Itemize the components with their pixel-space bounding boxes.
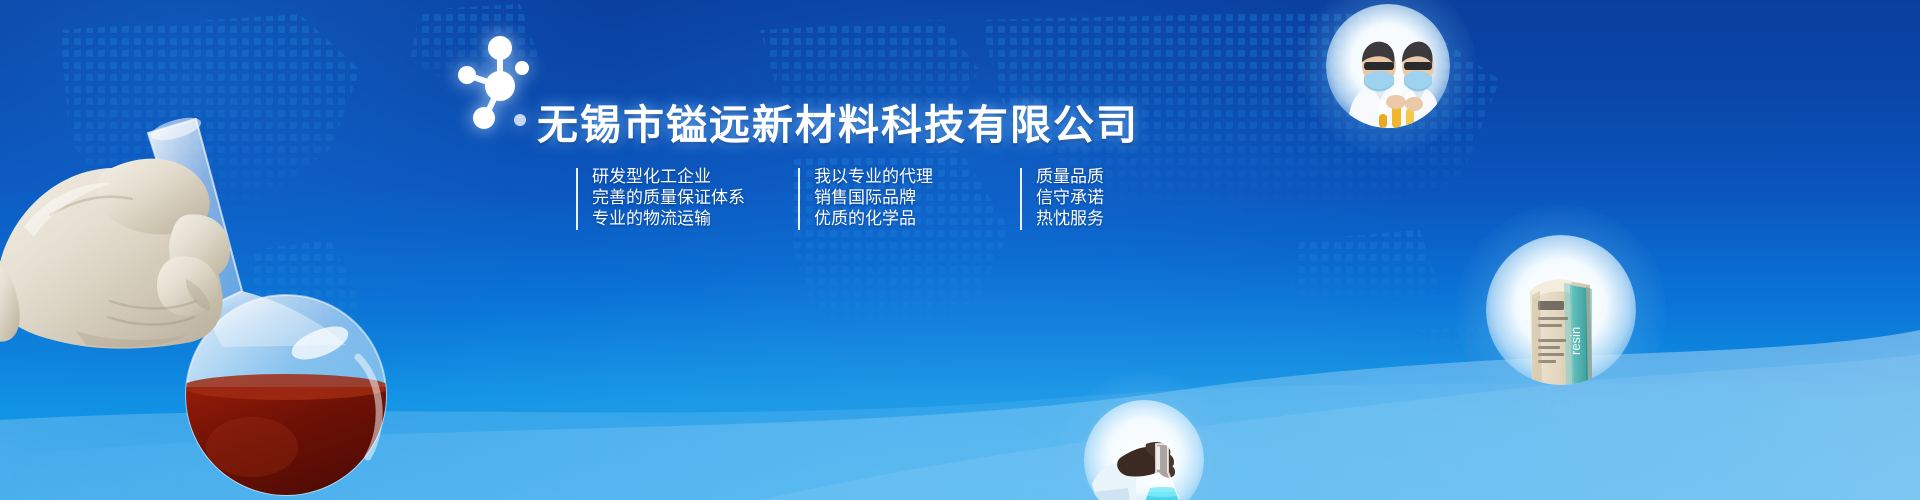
slogan-column-agency-brands-chemicals: 我以专业的代理 销售国际品牌 优质的化学品 [798,166,974,229]
slogan-column-rnd-quality-logistics: 研发型化工企业 完善的质量保证体系 专业的物流运输 [576,166,752,229]
bubble-halo [1084,400,1204,500]
company-hero-banner: 无锡市镒远新材料科技有限公司 研发型化工企业 完善的质量保证体系 专业的物流运输… [0,0,1920,500]
page-title: 无锡市镒远新材料科技有限公司 [537,91,1139,151]
slogan-line: 质量品质 [1036,166,1132,187]
bubble-halo [1486,235,1636,385]
slogan-group: 研发型化工企业 完善的质量保证体系 专业的物流运输 我以专业的代理 销售国际品牌… [576,166,1132,229]
background-glow-bottom [0,260,1920,500]
bubble-glow-product-bag [1456,205,1666,415]
background-light-streaks [0,270,1920,500]
slogan-line: 我以专业的代理 [814,166,974,187]
column-divider-rule [576,168,578,230]
slogan-line: 完善的质量保证体系 [592,187,752,208]
slogan-line: 研发型化工企业 [592,166,752,187]
bubble-glow-scientists [1300,0,1476,154]
slogan-line: 热忱服务 [1036,208,1132,229]
bubble-two-lab-scientists [1326,4,1450,128]
two-lab-scientists-test-tubes-icon [1326,4,1450,128]
bubble-hand-holding-flask [1084,400,1204,500]
slogan-line: 信守承诺 [1036,187,1132,208]
bubble-chemical-resin-sack: resin [1486,235,1636,385]
hand-holding-blue-liquid-flask-icon [1084,400,1204,500]
svg-text:resin: resin [1568,327,1583,355]
slogan-line: 销售国际品牌 [814,187,974,208]
bubble-halo [1326,4,1450,128]
gloved-hand-round-flask-red-liquid-photo [0,95,420,500]
bubble-glow-hand-flask [1056,372,1232,500]
chemical-resin-sack-product-icon: resin [1486,235,1636,385]
column-divider-rule [798,168,800,230]
slogan-line: 专业的物流运输 [592,208,752,229]
slogan-line: 优质的化学品 [814,208,974,229]
column-divider-rule [1020,168,1022,230]
slogan-column-quality-promise-service: 质量品质 信守承诺 热忱服务 [1020,166,1132,229]
world-map-dots [0,0,1920,500]
background-glow-top-left [0,0,640,460]
